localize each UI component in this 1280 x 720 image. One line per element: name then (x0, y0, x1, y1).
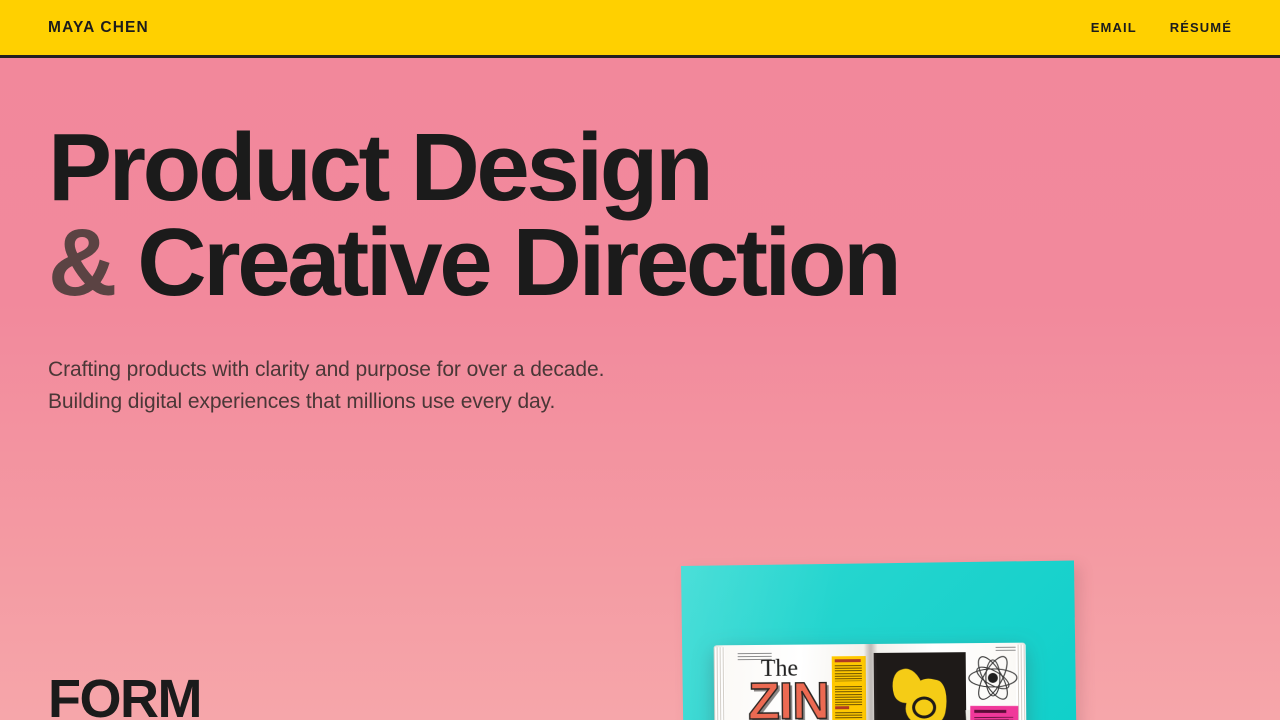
hero-subtitle-line-2: Building digital experiences that millio… (48, 386, 1232, 418)
brand-logo[interactable]: MAYA CHEN (48, 19, 149, 37)
hero-subtitle: Crafting products with clarity and purpo… (48, 354, 1232, 418)
section-heading-form: FORM (48, 672, 201, 720)
nav-link-email[interactable]: EMAIL (1091, 20, 1137, 35)
hero-title-ampersand: & (48, 209, 114, 316)
hero-title-line-1: Product Design (48, 114, 710, 221)
page-title: Product Design & Creative Direction (48, 120, 1232, 310)
hero-subtitle-line-1: Crafting products with clarity and purpo… (48, 354, 1232, 386)
nav-link-resume[interactable]: RÉSUMÉ (1170, 20, 1232, 35)
hero-section: Product Design & Creative Direction Craf… (0, 58, 1280, 418)
site-header: MAYA CHEN EMAIL RÉSUMÉ (0, 0, 1280, 58)
primary-nav: EMAIL RÉSUMÉ (1091, 20, 1232, 35)
hero-title-line-2: Creative Direction (137, 209, 898, 316)
